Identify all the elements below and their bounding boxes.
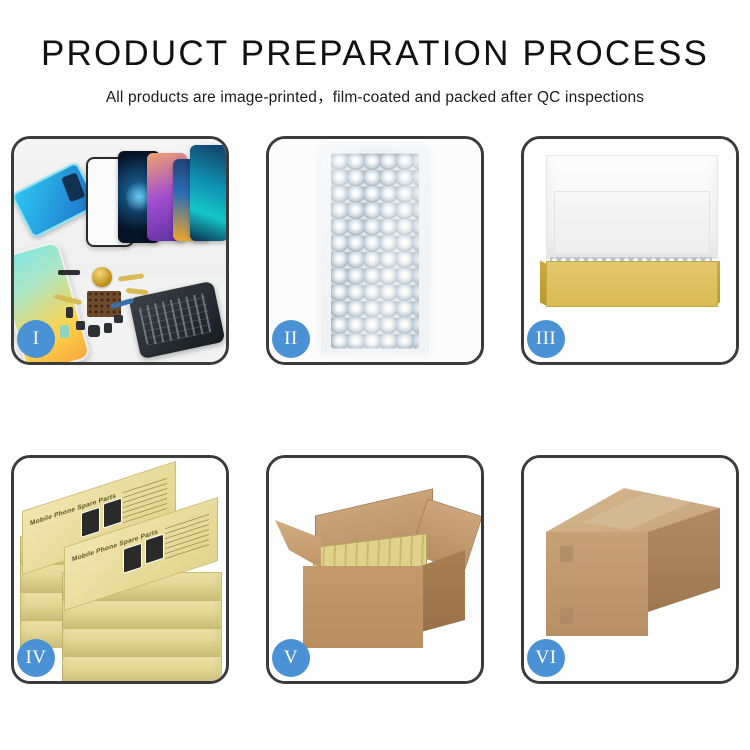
process-step-3: III <box>521 136 739 365</box>
box-spec-lines-2 <box>165 511 209 559</box>
small-part-4 <box>88 325 100 337</box>
product-preparation-infographic: PRODUCT PREPARATION PROCESS All products… <box>0 0 750 750</box>
step-badge-4: IV <box>17 639 55 677</box>
speaker-coin-part <box>92 267 112 287</box>
packing-tape-front-lower <box>560 608 573 624</box>
phone-screen-teal <box>190 145 226 241</box>
packing-tape-front-upper <box>560 546 573 562</box>
stacked-box-7 <box>62 628 222 656</box>
step-badge-1: I <box>17 320 55 358</box>
box-screen-swatch-1b <box>103 498 122 529</box>
bubble-wrap-package <box>321 148 429 353</box>
step-badge-2: II <box>272 320 310 358</box>
step-badge-3: III <box>527 320 565 358</box>
box-screen-swatch-2a <box>123 543 142 574</box>
box-lid-flap <box>554 191 710 255</box>
small-part-6 <box>114 315 123 323</box>
process-step-4: Mobile Phone Spare Parts Mobile Phone Sp… <box>11 455 229 684</box>
carton-side-panel <box>421 550 465 632</box>
process-step-6: VI <box>521 455 739 684</box>
box-screen-swatch-1a <box>81 507 100 538</box>
page-title: PRODUCT PREPARATION PROCESS <box>0 36 750 73</box>
small-part-1 <box>58 270 80 275</box>
carton-front-panel <box>303 566 423 648</box>
small-part-5 <box>104 323 112 333</box>
small-part-7 <box>60 325 69 338</box>
page-subtitle: All products are image-printed，film-coat… <box>0 85 750 107</box>
header: PRODUCT PREPARATION PROCESS All products… <box>0 0 750 107</box>
flex-cable-3 <box>126 288 148 295</box>
stacked-box-8 <box>62 656 222 681</box>
plastic-sheen <box>321 148 429 353</box>
small-part-2 <box>66 307 73 318</box>
process-step-grid: I II III <box>11 136 739 684</box>
process-step-5: V <box>266 455 484 684</box>
process-step-2: II <box>266 136 484 365</box>
box-tray-front <box>546 261 718 307</box>
small-part-3 <box>76 321 85 330</box>
box-screen-swatch-2b <box>145 534 164 565</box>
step-badge-6: VI <box>527 639 565 677</box>
process-step-1: I <box>11 136 229 365</box>
step-badge-5: V <box>272 639 310 677</box>
stacked-box-6 <box>62 600 222 628</box>
box-stack: Mobile Phone Spare Parts Mobile Phone Sp… <box>20 476 220 666</box>
